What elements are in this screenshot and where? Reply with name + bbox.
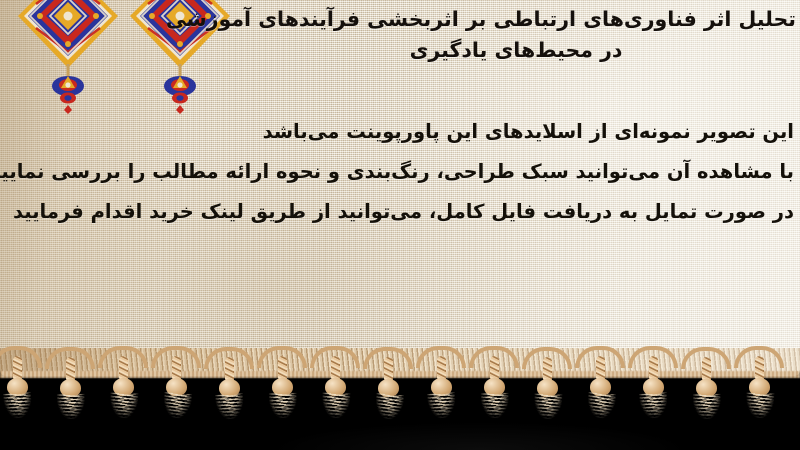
fringe-fray bbox=[57, 394, 86, 424]
fringe-tassel bbox=[151, 352, 201, 424]
slide-title: تحلیل اثر فناوری‌های ارتباطی بر اثربخشی … bbox=[236, 4, 796, 66]
kilim-pendant-left-icon bbox=[14, 0, 122, 114]
fringe-fray bbox=[269, 393, 298, 423]
fringe-fray bbox=[427, 392, 457, 424]
fringe-fray bbox=[374, 393, 405, 425]
fringe-tassel bbox=[522, 353, 572, 425]
body-line-3: در صورت تمایل به دریافت فایل کامل، می‌تو… bbox=[4, 192, 794, 232]
slide-canvas: تحلیل اثر فناوری‌های ارتباطی بر اثربخشی … bbox=[0, 0, 800, 450]
body-line-2: با مشاهده آن می‌توانید سبک طراحی، رنگ‌بن… bbox=[4, 152, 794, 192]
title-line-2: در محیط‌های یادگیری bbox=[236, 35, 796, 66]
fringe-tassel bbox=[204, 353, 254, 425]
fringe-fray bbox=[162, 392, 193, 424]
fringe-fray bbox=[321, 393, 350, 424]
fringe-tassel bbox=[416, 352, 466, 424]
fringe-fray bbox=[586, 392, 617, 424]
fringe-tassel bbox=[363, 353, 413, 425]
fringe-fray bbox=[3, 392, 33, 424]
fringe-tassel bbox=[98, 352, 148, 424]
fringe-fray bbox=[215, 393, 245, 425]
fringe-tassel bbox=[575, 352, 625, 424]
fringe-tassel bbox=[469, 352, 519, 424]
fringe-tassel bbox=[45, 353, 95, 425]
fringe-fray bbox=[533, 394, 562, 425]
fringe-tassel bbox=[734, 352, 784, 424]
fringe-fray bbox=[693, 394, 722, 424]
fringe-tassel bbox=[257, 352, 307, 424]
slide-body: این تصویر نمونه‌ای از اسلایدهای این پاور… bbox=[4, 112, 794, 232]
fringe-tassel bbox=[310, 352, 360, 424]
fringe-tassel bbox=[681, 353, 731, 425]
fringe-fray bbox=[639, 392, 669, 424]
body-line-1: این تصویر نمونه‌ای از اسلایدهای این پاور… bbox=[4, 112, 794, 152]
title-line-1: تحلیل اثر فناوری‌های ارتباطی بر اثربخشی … bbox=[236, 4, 796, 35]
fringe-tassel bbox=[628, 352, 678, 424]
fringe-fray bbox=[481, 393, 510, 423]
fringe-fray bbox=[745, 393, 774, 424]
fringe-fray bbox=[109, 393, 138, 424]
fringe-tassel bbox=[0, 352, 42, 424]
